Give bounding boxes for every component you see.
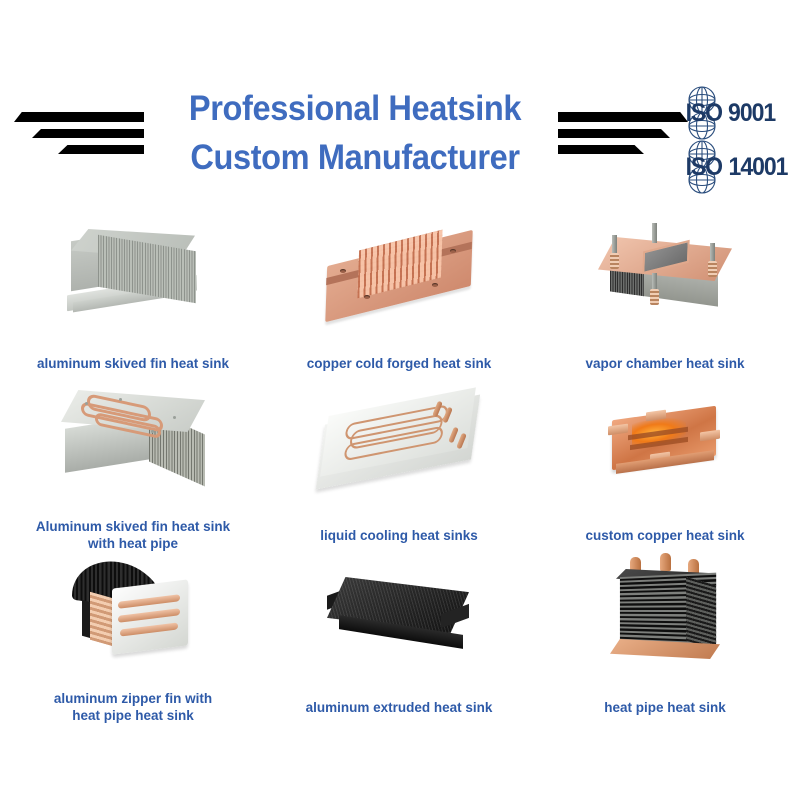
product-caption-line: with heat pipe — [0, 535, 266, 552]
product-caption: heat pipe heat sink — [532, 699, 798, 716]
page-title-line-1: Professional Heatsink — [136, 84, 573, 133]
product-caption-line: vapor chamber heat sink — [532, 355, 798, 372]
vapor-chamber-heat-sink-photo[interactable] — [532, 210, 798, 328]
product-caption-line: aluminum skived fin heat sink — [0, 355, 266, 372]
custom-copper-heat-sink-photo[interactable] — [532, 382, 798, 500]
status-badge: ISO 14001 — [676, 144, 794, 190]
product-caption-line: liquid cooling heat sinks — [266, 527, 532, 544]
product-caption: aluminum skived fin heat sink — [0, 355, 266, 372]
iso-badge-word: ISO — [686, 99, 722, 128]
product-caption-line: copper cold forged heat sink — [266, 355, 532, 372]
product-caption: aluminum zipper fin with heat pipe heat … — [0, 690, 266, 724]
product-card[interactable]: vapor chamber heat sink — [532, 210, 798, 382]
iso-badge-number: 14001 — [729, 153, 788, 182]
product-caption: vapor chamber heat sink — [532, 355, 798, 372]
aluminum-skived-fin-heat-sink-photo[interactable] — [0, 210, 266, 328]
product-row: aluminum zipper fin with heat pipe heat … — [0, 554, 800, 726]
iso-badge-word: ISO — [686, 153, 722, 182]
wing-speed-lines-icon — [558, 98, 688, 168]
banner-header: Professional Heatsink Custom Manufacture… — [0, 84, 800, 204]
copper-cold-forged-heat-sink-photo[interactable] — [266, 210, 532, 328]
page-title: Professional Heatsink Custom Manufacture… — [120, 84, 590, 182]
product-caption: Aluminum skived fin heat sink with heat … — [0, 518, 266, 552]
product-grid: aluminum skived fin heat sink — [0, 210, 800, 730]
product-row: aluminum skived fin heat sink — [0, 210, 800, 382]
product-row: Aluminum skived fin heat sink with heat … — [0, 382, 800, 554]
heat-pipe-heat-sink-photo[interactable] — [532, 554, 798, 672]
product-card[interactable]: liquid cooling heat sinks — [266, 382, 532, 554]
aluminum-skived-fin-with-heat-pipe-photo[interactable] — [0, 382, 266, 500]
product-caption: custom copper heat sink — [532, 527, 798, 544]
product-card[interactable]: heat pipe heat sink — [532, 554, 798, 726]
product-card[interactable]: aluminum extruded heat sink — [266, 554, 532, 726]
product-caption-line: aluminum extruded heat sink — [266, 699, 532, 716]
product-showcase-banner: Professional Heatsink Custom Manufacture… — [0, 0, 800, 800]
aluminum-zipper-fin-with-heat-pipe-photo[interactable] — [0, 554, 266, 672]
product-card[interactable]: copper cold forged heat sink — [266, 210, 532, 382]
product-caption: aluminum extruded heat sink — [266, 699, 532, 716]
product-caption: liquid cooling heat sinks — [266, 527, 532, 544]
product-caption-line: heat pipe heat sink — [532, 699, 798, 716]
product-caption-line: Aluminum skived fin heat sink — [0, 518, 266, 535]
iso-certification-badges: ISO 9001 — [676, 90, 794, 198]
product-card[interactable]: custom copper heat sink — [532, 382, 798, 554]
product-card[interactable]: aluminum zipper fin with heat pipe heat … — [0, 554, 266, 726]
product-card[interactable]: Aluminum skived fin heat sink with heat … — [0, 382, 266, 554]
product-caption-line: aluminum zipper fin with — [0, 690, 266, 707]
status-badge: ISO 9001 — [676, 90, 794, 136]
product-caption-line: custom copper heat sink — [532, 527, 798, 544]
iso-badge-number: 9001 — [729, 99, 776, 128]
product-card[interactable]: aluminum skived fin heat sink — [0, 210, 266, 382]
page-title-line-2: Custom Manufacturer — [136, 133, 573, 182]
aluminum-extruded-heat-sink-photo[interactable] — [266, 554, 532, 672]
liquid-cooling-heat-sink-photo[interactable] — [266, 382, 532, 500]
product-caption-line: heat pipe heat sink — [0, 707, 266, 724]
product-caption: copper cold forged heat sink — [266, 355, 532, 372]
